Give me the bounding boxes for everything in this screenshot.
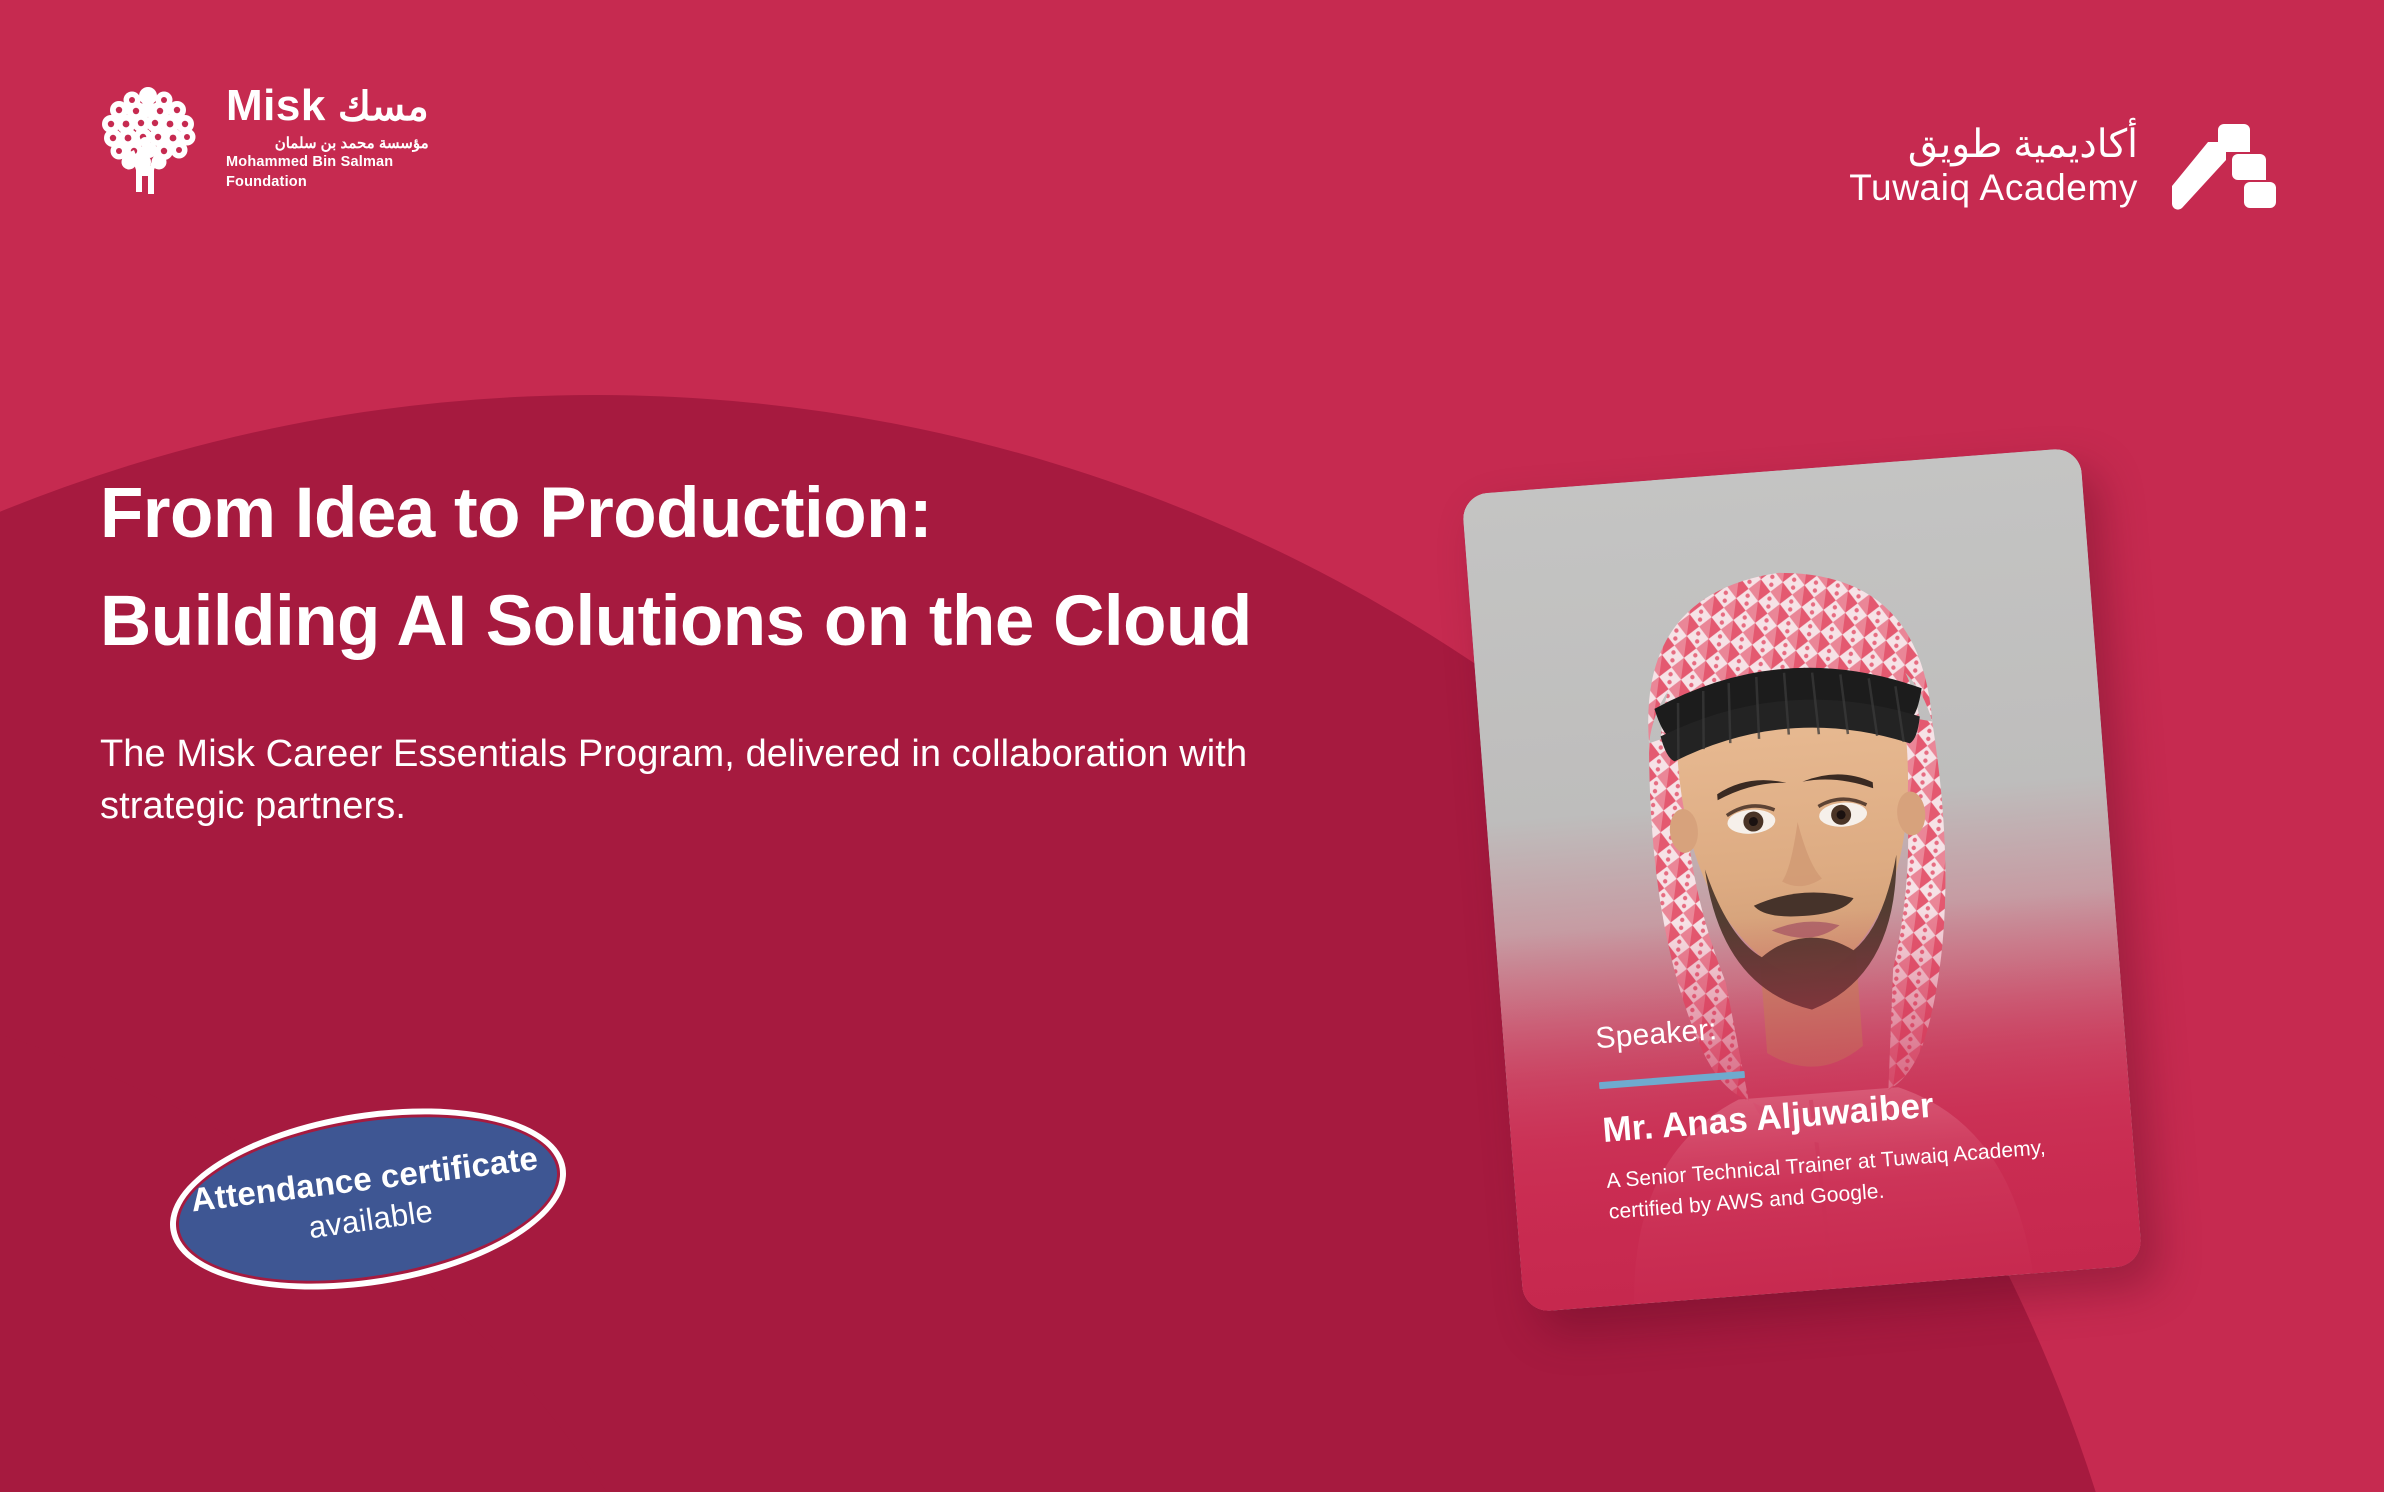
speaker-card: Speaker: Mr. Anas Aljuwaiber A Senior Te… xyxy=(1461,447,2142,1312)
misk-foundation-logo: Misk مسك مؤسسة محمد بن سلمان Mohammed Bi… xyxy=(92,78,429,198)
misk-english-subtitle-line1: Mohammed Bin Salman xyxy=(226,154,429,172)
misk-english-subtitle-line2: Foundation xyxy=(226,174,429,192)
misk-arabic-subtitle: مؤسسة محمد بن سلمان xyxy=(226,135,429,152)
headline-block: From Idea to Production: Building AI Sol… xyxy=(100,478,1440,659)
speaker-divider-line xyxy=(1599,1071,1745,1089)
headline-line-2: Building AI Solutions on the Cloud xyxy=(100,550,1440,658)
misk-latin-name: Misk xyxy=(226,84,326,128)
misk-tree-icon xyxy=(92,78,204,198)
headline-line-1: From Idea to Production: xyxy=(100,478,1440,550)
tuwaiq-english-name: Tuwaiq Academy xyxy=(1849,167,2138,208)
tuwaiq-logo-wordmark: أكاديمية طويق Tuwaiq Academy xyxy=(1849,123,2138,208)
subtitle-text: The Misk Career Essentials Program, deli… xyxy=(100,728,1280,833)
misk-arabic-name: مسك xyxy=(338,87,429,127)
event-promo-banner: Misk مسك مؤسسة محمد بن سلمان Mohammed Bi… xyxy=(0,0,2384,1492)
tuwaiq-arabic-name: أكاديمية طويق xyxy=(1908,123,2138,167)
speaker-caption: Speaker: Mr. Anas Aljuwaiber A Senior Te… xyxy=(1594,985,2102,1228)
tuwaiq-mountain-steps-icon xyxy=(2164,120,2276,212)
tuwaiq-academy-logo: أكاديمية طويق Tuwaiq Academy xyxy=(1849,120,2276,212)
misk-logo-wordmark: Misk مسك مؤسسة محمد بن سلمان Mohammed Bi… xyxy=(226,84,429,192)
